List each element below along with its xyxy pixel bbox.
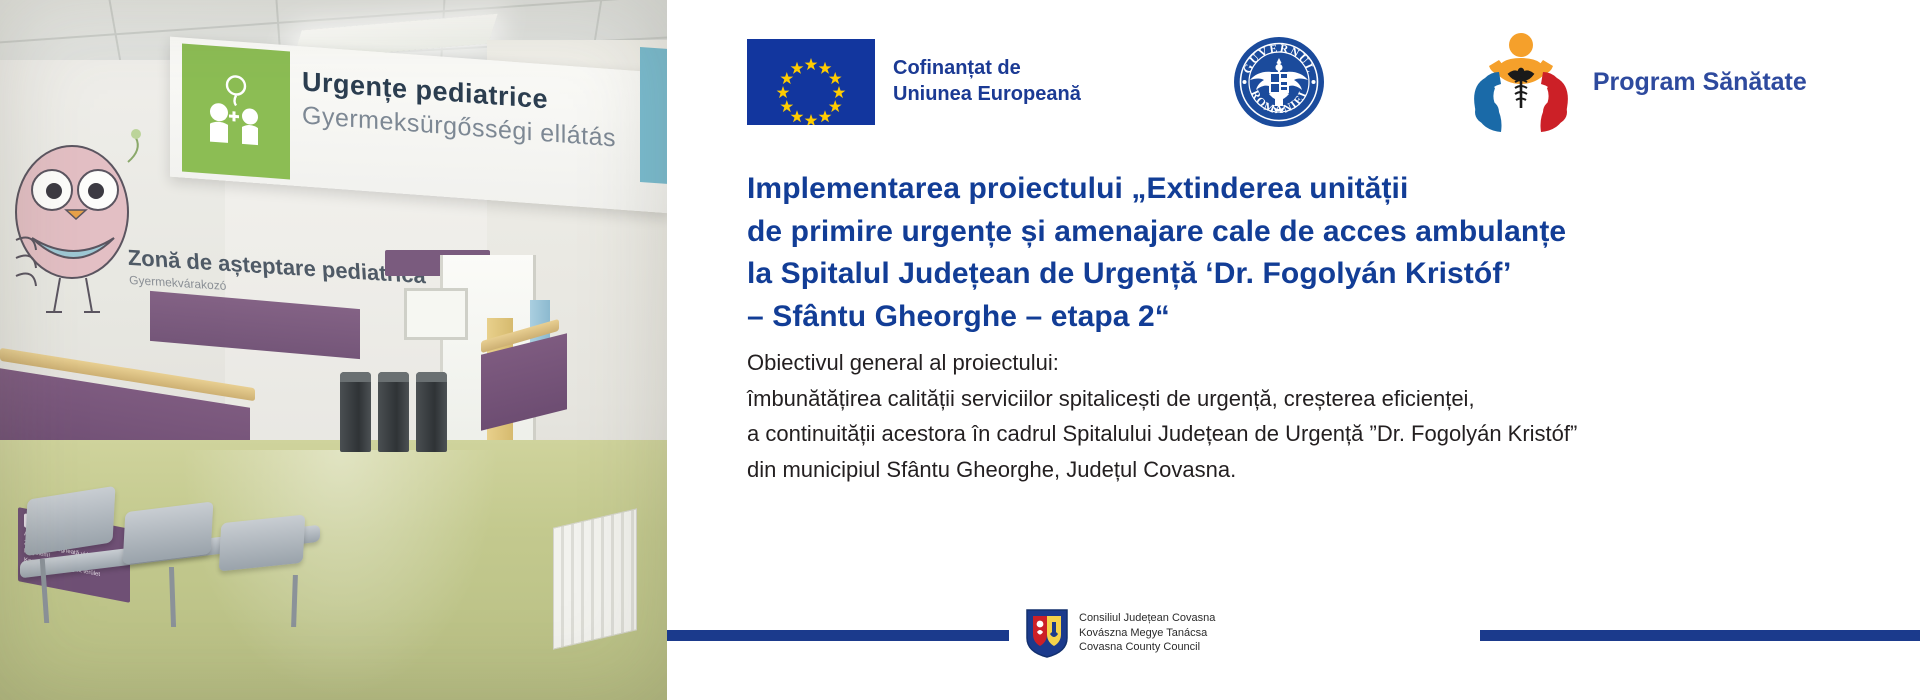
body-line-2: îmbunătățirea calității serviciilor spit…: [747, 381, 1920, 417]
romanian-government-logo: GUVERNUL ROMÂNIEI: [1233, 36, 1325, 128]
project-info-banner: Zonă de așteptare pediatrică Gyermekvára…: [0, 0, 1920, 700]
program-sanatate-logo: Program Sănătate: [1465, 30, 1807, 134]
eu-cofunding-logo: Cofinanțat de Uniunea Europeană: [747, 39, 1081, 125]
program-sanatate-icon: [1465, 30, 1577, 134]
county-shield-icon: [1025, 608, 1069, 658]
body-line-3: a continuității acestora în cadrul Spita…: [747, 416, 1920, 452]
body-line-4: din municipiul Sfântu Gheorghe, Județul …: [747, 452, 1920, 488]
sign-green-panel: [182, 44, 290, 180]
radiator: [553, 508, 637, 649]
waiting-chairs: [20, 485, 350, 675]
title-line-4: – Sfântu Gheorghe – etapa 2“: [747, 296, 1877, 339]
footer-bar: Consiliul Județean Covasna Kovászna Megy…: [667, 608, 1920, 664]
project-objective-text: Obiectivul general al proiectului: îmbun…: [747, 345, 1920, 488]
signboard-blue-edge: [640, 47, 667, 184]
eu-cofunding-label: Cofinanțat de Uniunea Europeană: [893, 56, 1081, 107]
content-panel: Cofinanțat de Uniunea Europeană: [667, 0, 1920, 700]
title-line-2: de primire urgențe și amenajare cale de …: [747, 211, 1877, 254]
body-line-1: Obiectivul general al proiectului:: [747, 345, 1920, 381]
waste-bins: [340, 372, 450, 457]
program-sanatate-label: Program Sănătate: [1593, 68, 1807, 97]
council-line-ro: Consiliul Județean Covasna: [1079, 611, 1215, 626]
owl-mural-illustration: [10, 120, 145, 350]
government-seal-icon: GUVERNUL ROMÂNIEI: [1233, 36, 1325, 128]
hospital-pediatric-emergency-photo: Zonă de așteptare pediatrică Gyermekvára…: [0, 0, 667, 700]
council-line-en: Covasna County Council: [1079, 640, 1215, 655]
footer-bar-left-segment: [667, 630, 1009, 641]
funding-logos-row: Cofinanțat de Uniunea Europeană: [747, 34, 1907, 130]
reception-window: [404, 288, 468, 340]
signboard-text: Urgențe pediatrice Gyermeksürgősségi ell…: [302, 66, 652, 156]
eu-label-line-2: Uniunea Europeană: [893, 82, 1081, 108]
footer-bar-right-segment: [1480, 630, 1920, 641]
project-title: Implementarea proiectului „Extinderea un…: [747, 168, 1877, 338]
eu-label-line-1: Cofinanțat de: [893, 56, 1081, 82]
title-line-3: la Spitalul Județean de Urgență ‘Dr. Fog…: [747, 253, 1877, 296]
county-council-label: Consiliul Județean Covasna Kovászna Megy…: [1079, 611, 1215, 656]
title-line-1: Implementarea proiectului „Extinderea un…: [747, 168, 1877, 211]
eu-flag-icon: [747, 39, 875, 125]
council-line-hu: Kovászna Megye Tanácsa: [1079, 626, 1215, 641]
family-pictogram-icon: [201, 69, 271, 154]
covasna-county-council-emblem: Consiliul Județean Covasna Kovászna Megy…: [1025, 608, 1215, 658]
